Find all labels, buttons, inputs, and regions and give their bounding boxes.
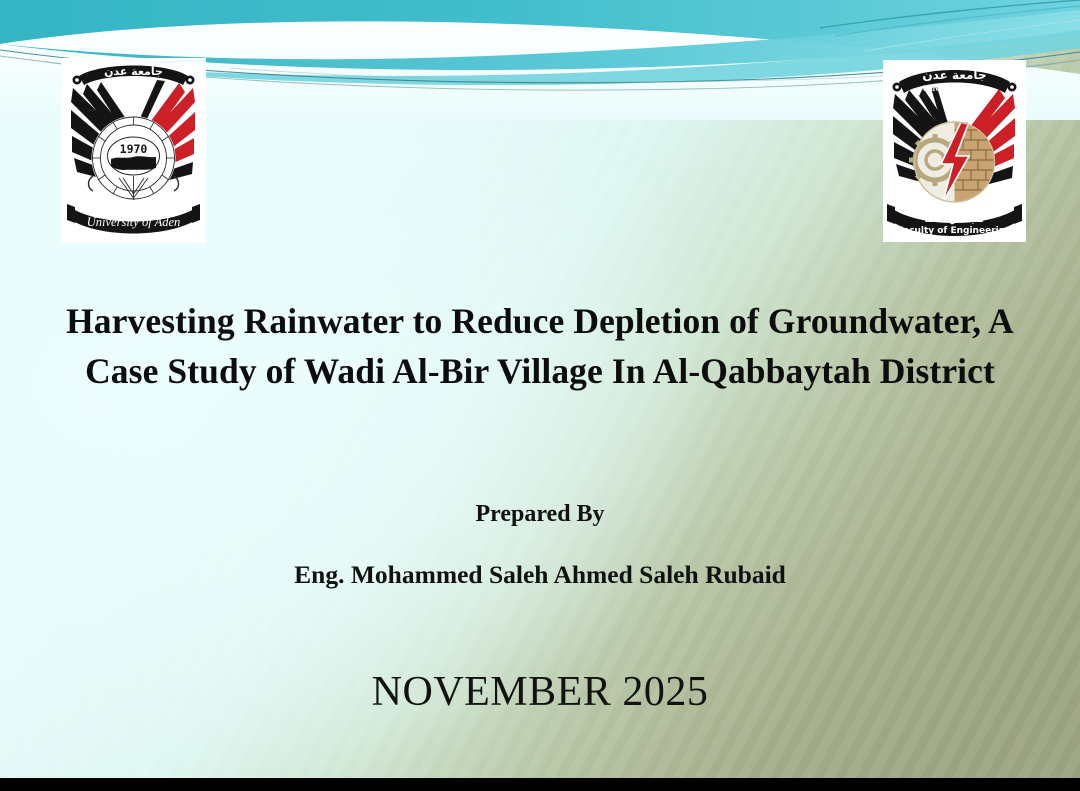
slide-title: Harvesting Rainwater to Reduce Depletion… <box>60 296 1020 397</box>
bottom-black-bar <box>0 778 1080 791</box>
university-of-aden-logo: جامعة عدن 197 <box>61 58 206 243</box>
logo-year-text: 1970 <box>120 142 148 156</box>
author-name: Eng. Mohammed Saleh Ahmed Saleh Rubaid <box>60 560 1020 590</box>
svg-text:جامعة عدن: جامعة عدن <box>922 68 986 82</box>
logo-banner-text: University of Aden <box>87 215 181 229</box>
svg-text:كلية الهندسة: كلية الهندسة <box>925 214 985 225</box>
logo-banner-text: Faculty of Engineering <box>897 226 1011 236</box>
presentation-slide: جامعة عدن 197 <box>0 0 1080 791</box>
prepared-by-label: Prepared By <box>60 501 1020 528</box>
presentation-date: NOVEMBER 2025 <box>60 668 1020 716</box>
svg-text:جامعة عدن: جامعة عدن <box>104 65 163 78</box>
logo-top-text: University of Aden <box>923 84 988 93</box>
faculty-of-engineering-logo: جامعة عدن University of Aden <box>883 60 1026 242</box>
faculty-of-engineering-logo-art: جامعة عدن University of Aden <box>883 60 1026 242</box>
university-of-aden-logo-art: جامعة عدن 197 <box>61 58 206 243</box>
